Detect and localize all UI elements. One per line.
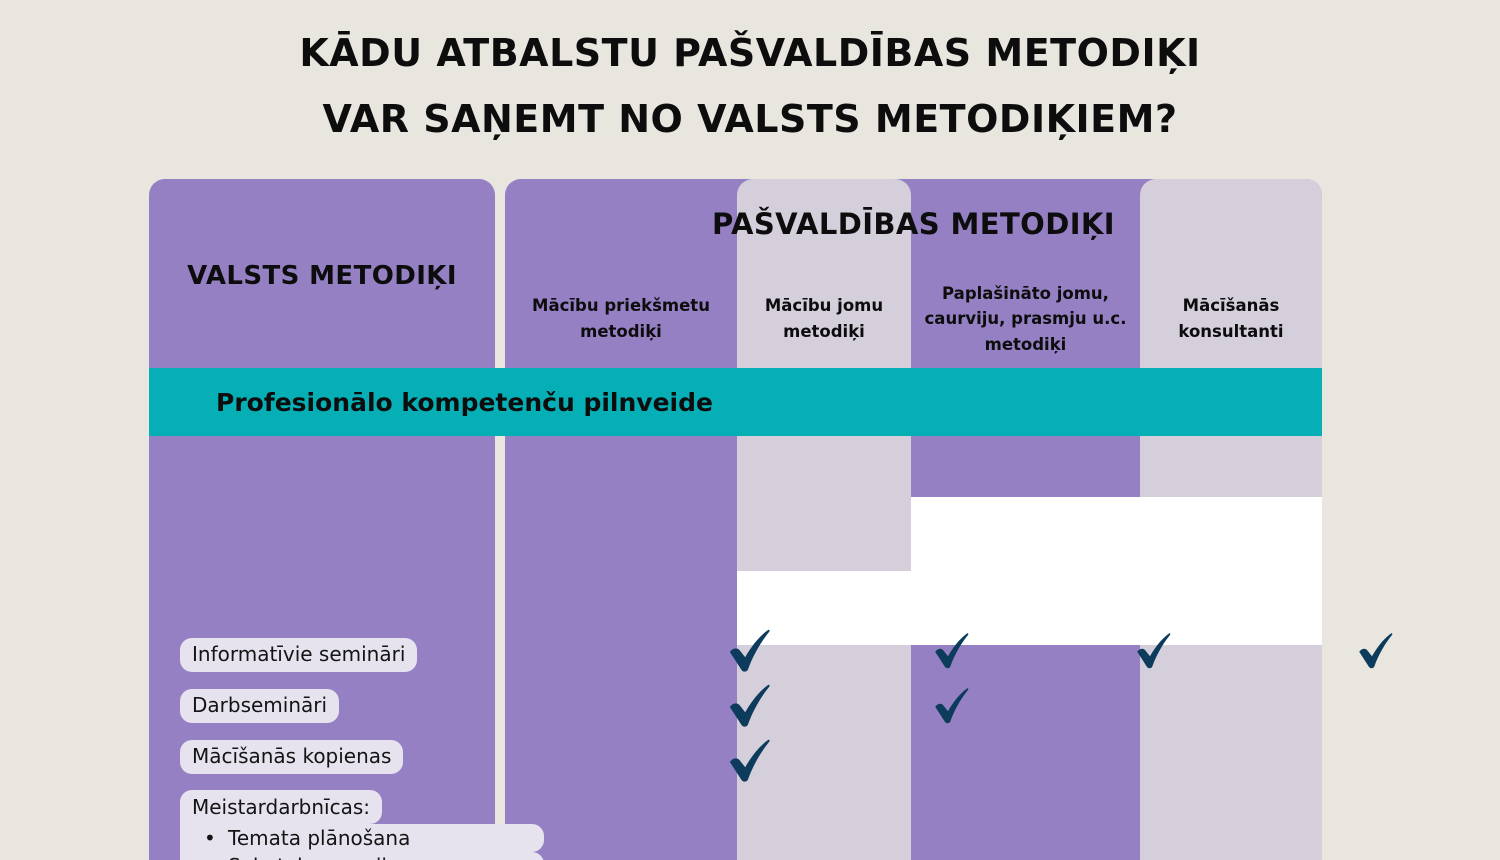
check-mark-icon: [726, 682, 774, 730]
row-label-meistardarbnicas: Meistardarbnīcas: Temata plānošana Solo …: [180, 790, 544, 860]
infographic-root: KĀDU ATBALSTU PAŠVALDĪBAS METODIĶI VAR S…: [0, 0, 1500, 860]
title-line-2: VAR SAŅEMT NO VALSTS METODIĶIEM?: [0, 100, 1500, 138]
support-matrix-table: VALSTS METODIĶI PAŠVALDĪBAS METODIĶI Māc…: [149, 179, 1322, 860]
check-mark-icon: [1356, 631, 1396, 671]
check-mark-icon: [726, 737, 774, 785]
row-label-text: Mācīšanās kopienas: [192, 744, 391, 768]
column-header-paplasinato-jomu: Paplašināto jomu, caurviju, prasmju u.c.…: [911, 274, 1140, 364]
page-title: KĀDU ATBALSTU PAŠVALDĪBAS METODIĶI VAR S…: [0, 34, 1500, 138]
title-line-1: KĀDU ATBALSTU PAŠVALDĪBAS METODIĶI: [0, 34, 1500, 72]
list-item: Temata plānošana: [180, 824, 544, 852]
row-label-informativie-seminari: Informatīvie semināri: [180, 638, 417, 672]
row-label-darbseminari: Darbsemināri: [180, 689, 339, 723]
meistardarbnicas-bullet-list: Temata plānošana Solo taksonomija Pārbau…: [180, 824, 544, 860]
column-header-macibu-jomu: Mācību jomu metodiķi: [737, 274, 911, 364]
row-label-macisanas-kopienas: Mācīšanās kopienas: [180, 740, 403, 774]
check-mark-icon: [1134, 631, 1174, 671]
check-mark-icon: [932, 686, 972, 726]
list-item: Solo taksonomija: [180, 852, 544, 860]
meistardarbnicas-lead: Meistardarbnīcas:: [180, 790, 382, 824]
row-label-text: Darbsemināri: [192, 693, 327, 717]
empty-cell-block-row2: [911, 497, 1322, 571]
check-mark-icon: [932, 631, 972, 671]
column-header-macisanas-konsultanti: Mācīšanās konsultanti: [1140, 274, 1322, 364]
valsts-metodiki-header: VALSTS METODIĶI: [149, 261, 495, 291]
column-header-macibu-prieksmetu: Mācību priekšmetu metodiķi: [505, 274, 737, 364]
row-label-text: Informatīvie semināri: [192, 642, 405, 666]
check-mark-icon: [726, 627, 774, 675]
empty-cell-block-row3: [737, 571, 1322, 645]
section-band-label: Profesionālo kompetenču pilnveide: [216, 368, 713, 436]
pasvaldibas-metodiki-header: PAŠVALDĪBAS METODIĶI: [505, 207, 1322, 241]
section-band-profesionalo-kompetencu: Profesionālo kompetenču pilnveide: [149, 368, 1322, 436]
